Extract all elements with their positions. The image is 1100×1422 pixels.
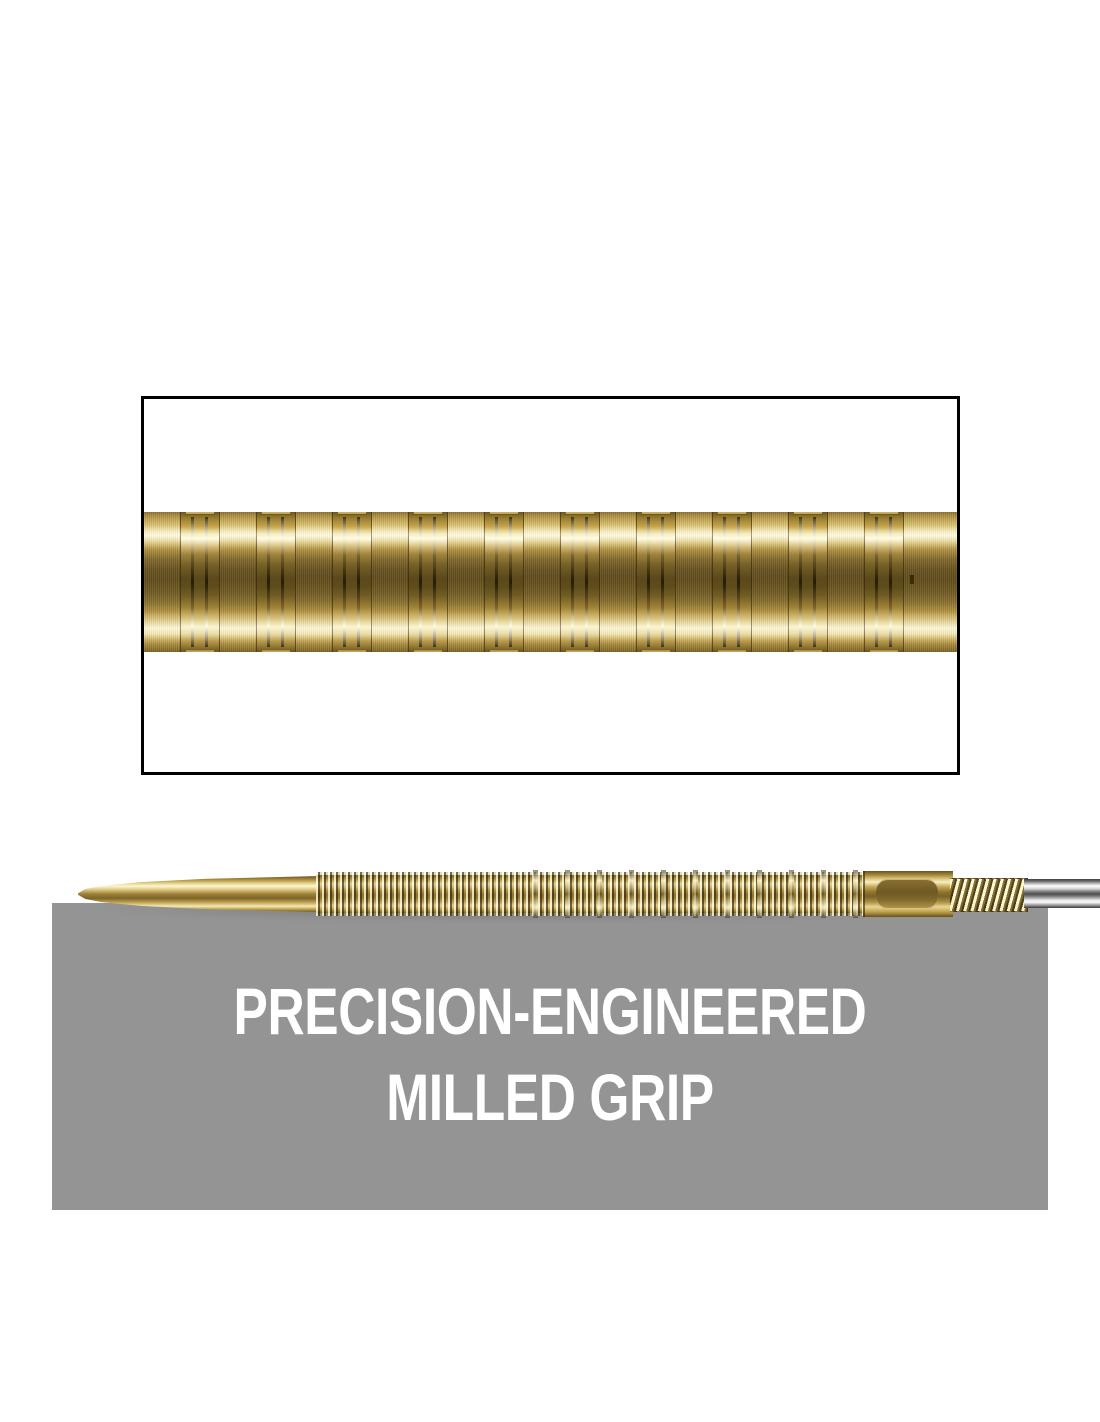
dart-nose-taper: [78, 876, 320, 912]
flat-band: [448, 512, 484, 652]
ring-groove: [281, 517, 284, 647]
ring-groove: [419, 517, 422, 647]
ring-groove: [343, 517, 346, 647]
ring-groove: [661, 517, 664, 647]
dart-groove-band: [821, 870, 826, 918]
ring-cap-top: [185, 512, 215, 515]
ring-cap-top: [413, 512, 443, 515]
flat-band: [372, 512, 408, 652]
ring-cap-top: [337, 512, 367, 515]
dart-groove-band: [533, 870, 538, 918]
ring-groove: [509, 517, 512, 647]
ring-groove: [267, 517, 270, 647]
dart-groove-band: [693, 870, 698, 918]
milled-ring-group: [484, 512, 524, 652]
ring-cap-bottom: [641, 649, 671, 652]
dart-groove-band: [757, 870, 762, 918]
ring-collar: [636, 512, 676, 652]
ring-groove: [191, 517, 194, 647]
ring-groove: [813, 517, 816, 647]
ring-groove: [875, 517, 878, 647]
ring-collar: [256, 512, 296, 652]
flat-band: [828, 512, 864, 652]
ring-cap-top: [793, 512, 823, 515]
ring-collar: [408, 512, 448, 652]
milled-ring-group: [788, 512, 828, 652]
ring-cap-top: [565, 512, 595, 515]
caption-line-1: PRECISION-ENGINEERED: [162, 968, 939, 1054]
magnified-barrel-detail-box: [141, 396, 960, 775]
flat-band: [220, 512, 256, 652]
ring-groove: [723, 517, 726, 647]
milled-ring-group: [256, 512, 296, 652]
ring-cap-top: [869, 512, 899, 515]
ring-cap-bottom: [717, 649, 747, 652]
ring-cap-top: [489, 512, 519, 515]
dart-milled-grip-rings: [316, 872, 866, 916]
ring-cap-top: [717, 512, 747, 515]
dart-groove-band: [565, 870, 570, 918]
ring-collar: [788, 512, 828, 652]
ring-groove: [647, 517, 650, 647]
ring-cap-bottom: [489, 649, 519, 652]
milled-ring-group: [560, 512, 600, 652]
ring-collar: [332, 512, 372, 652]
ring-groove: [799, 517, 802, 647]
ring-cap-bottom: [261, 649, 291, 652]
flat-band: [524, 512, 560, 652]
ring-groove: [889, 517, 892, 647]
ring-collar: [484, 512, 524, 652]
barrel-index-notch: [910, 575, 914, 584]
dart-steel-point: [1024, 879, 1100, 908]
milled-ring-group: [332, 512, 372, 652]
ring-collar: [180, 512, 220, 652]
dart-collar-face: [876, 879, 938, 909]
milled-ring-group: [864, 512, 904, 652]
ring-cap-top: [261, 512, 291, 515]
ring-groove: [357, 517, 360, 647]
ring-groove: [571, 517, 574, 647]
caption-line-2: MILLED GRIP: [162, 1054, 939, 1140]
ring-groove: [495, 517, 498, 647]
dart-groove-band: [629, 870, 634, 918]
ring-groove: [433, 517, 436, 647]
milled-ring-group: [712, 512, 752, 652]
ring-collar: [712, 512, 752, 652]
ring-cap-bottom: [185, 649, 215, 652]
ring-groove: [205, 517, 208, 647]
flat-band: [676, 512, 712, 652]
ring-collar: [864, 512, 904, 652]
ring-cap-bottom: [565, 649, 595, 652]
ring-cap-top: [641, 512, 671, 515]
dart-groove-band: [725, 870, 730, 918]
flat-band: [296, 512, 332, 652]
magnified-barrel-graphic: [141, 512, 960, 652]
milled-ring-group: [408, 512, 448, 652]
dart-groove-band: [661, 870, 666, 918]
ring-collar: [560, 512, 600, 652]
flat-band: [600, 512, 636, 652]
feature-caption: PRECISION-ENGINEERED MILLED GRIP: [162, 968, 939, 1140]
dart-groove-band: [853, 870, 858, 918]
dart-product-image: [78, 862, 1023, 924]
ring-groove: [737, 517, 740, 647]
dart-threaded-section: [950, 878, 1028, 912]
milled-ring-group: [636, 512, 676, 652]
ring-cap-bottom: [337, 649, 367, 652]
flat-band: [752, 512, 788, 652]
ring-cap-bottom: [793, 649, 823, 652]
milled-ring-group: [180, 512, 220, 652]
ring-cap-bottom: [869, 649, 899, 652]
ring-cap-bottom: [413, 649, 443, 652]
dart-groove-band: [789, 870, 794, 918]
flat-band: [144, 512, 180, 652]
ring-groove: [585, 517, 588, 647]
dart-groove-band: [597, 870, 602, 918]
